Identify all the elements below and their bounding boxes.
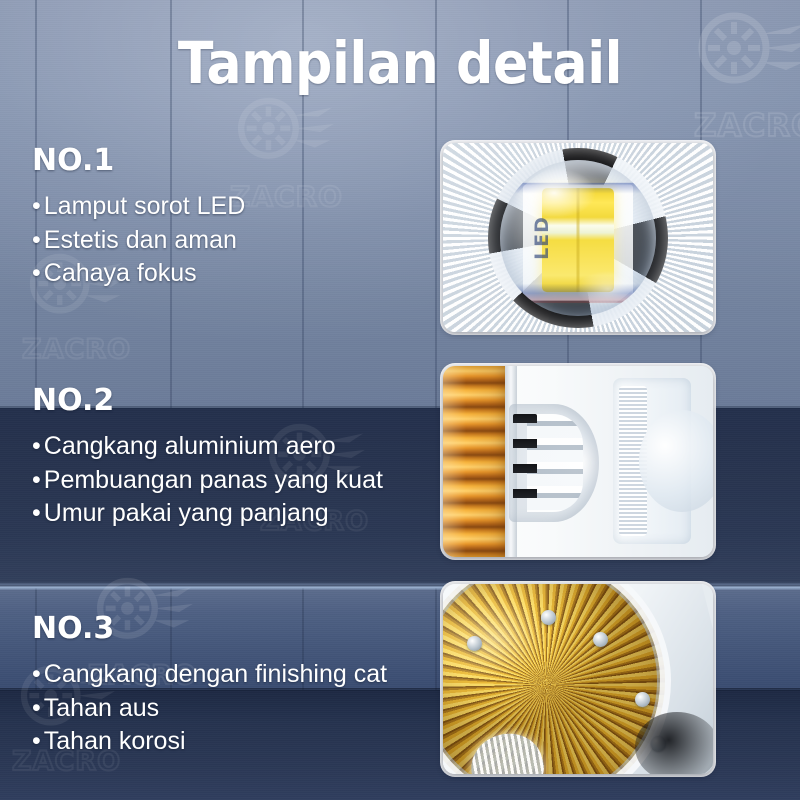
bullet-glyph: • [32, 430, 41, 464]
housing-shadow-edge [635, 712, 713, 774]
lens-specular-highlight [503, 163, 653, 313]
product-detail-infographic: ZACRO ZACRO [0, 0, 800, 800]
section-number-3: NO.3 [32, 614, 462, 644]
product-image-card-2 [443, 366, 713, 557]
feature-item: • Cangkang dengan finishing cat [32, 658, 462, 692]
feature-text: Estetis dan aman [44, 224, 237, 258]
feature-text: Cangkang dengan finishing cat [44, 658, 387, 692]
bullet-glyph: • [32, 464, 41, 498]
feature-text: Tahan korosi [44, 725, 186, 759]
mounting-screw [635, 692, 650, 707]
feature-text: Cangkang aluminium aero [44, 430, 336, 464]
fins-sheen [443, 366, 509, 557]
page-title: Tampilan detail [40, 34, 760, 92]
feature-item: • Lamput sorot LED [32, 190, 462, 224]
bullet-glyph: • [32, 190, 41, 224]
feature-list-2: • Cangkang aluminium aero • Pembuangan p… [32, 430, 462, 531]
feature-item: • Umur pakai yang panjang [32, 497, 462, 531]
feature-text: Tahan aus [44, 692, 159, 726]
feature-section-1: NO.1 • Lamput sorot LED • Estetis dan am… [32, 146, 462, 291]
led-projector-lens-photo: LED [443, 143, 713, 332]
feature-list-3: • Cangkang dengan finishing cat • Tahan … [32, 658, 462, 759]
bullet-glyph: • [32, 692, 41, 726]
section-number-1: NO.1 [32, 146, 462, 176]
gold-painted-finned-housing-photo [443, 584, 713, 774]
feature-item: • Cangkang aluminium aero [32, 430, 462, 464]
section-number-2: NO.2 [32, 386, 462, 416]
feature-item: • Tahan aus [32, 692, 462, 726]
feature-item: • Tahan korosi [32, 725, 462, 759]
bullet-glyph: • [32, 658, 41, 692]
bullet-glyph: • [32, 224, 41, 258]
feature-section-2: NO.2 • Cangkang aluminium aero • Pembuan… [32, 386, 462, 531]
feature-text: Lamput sorot LED [44, 190, 246, 224]
product-image-card-1: LED [443, 143, 713, 332]
aluminium-heatsink-reflector-photo [443, 366, 713, 557]
reflector-vent-slots [513, 414, 537, 512]
feature-text: Cahaya fokus [44, 257, 197, 291]
feature-section-3: NO.3 • Cangkang dengan finishing cat • T… [32, 614, 462, 759]
mounting-screw [541, 610, 556, 625]
feature-text: Pembuangan panas yang kuat [44, 464, 383, 498]
bullet-glyph: • [32, 497, 41, 531]
feature-list-1: • Lamput sorot LED • Estetis dan aman • … [32, 190, 462, 291]
bullet-glyph: • [32, 257, 41, 291]
feature-item: • Cahaya fokus [32, 257, 462, 291]
mounting-screw [593, 632, 608, 647]
feature-item: • Estetis dan aman [32, 224, 462, 258]
feature-text: Umur pakai yang panjang [44, 497, 329, 531]
bullet-glyph: • [32, 725, 41, 759]
product-image-card-3 [443, 584, 713, 774]
mounting-screw [467, 636, 482, 651]
feature-item: • Pembuangan panas yang kuat [32, 464, 462, 498]
